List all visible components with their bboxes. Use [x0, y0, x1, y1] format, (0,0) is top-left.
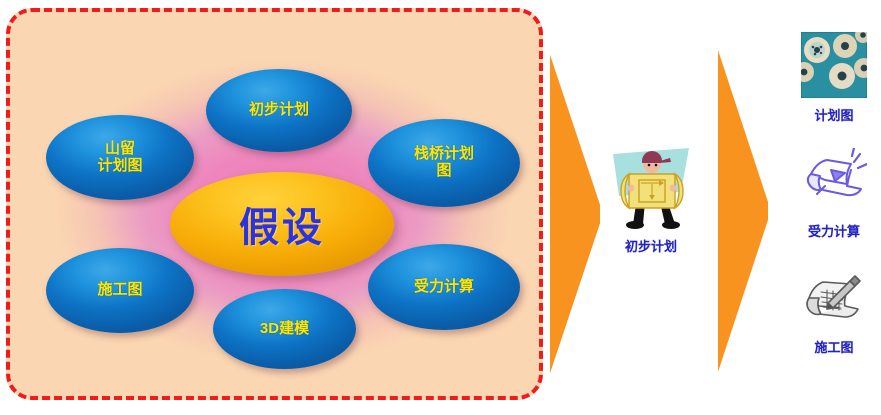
output-item-construction-drawing[interactable]: 施工图: [788, 264, 880, 356]
cluster-node-label: 初步计划: [249, 102, 309, 119]
cluster-node-label: 受力计算: [414, 279, 474, 296]
cluster-center-node[interactable]: 假设: [170, 172, 394, 276]
cluster-node-top[interactable]: 初步计划: [206, 69, 352, 152]
output-item-label: 计划图: [814, 105, 853, 124]
output-item-stress-calculation[interactable]: 受力计算: [788, 148, 880, 240]
assumption-cluster-panel: 初步计划 山留 计划图 栈桥计划 图 施工图 3D建模 受力计算 假设: [6, 8, 543, 400]
diagram-canvas: 初步计划 山留 计划图 栈桥计划 图 施工图 3D建模 受力计算 假设: [0, 0, 881, 415]
cluster-node-label: 3D建模: [260, 321, 309, 338]
rolled-blueprint-icon: [801, 148, 867, 214]
blueprint-with-pencil-icon: [801, 264, 867, 330]
stage-node-preliminary-plan[interactable]: 初步计划: [592, 142, 710, 270]
output-item-plan-drawing[interactable]: 计划图: [788, 32, 880, 124]
worker-holding-blueprint-icon: [603, 142, 699, 230]
output-item-label: 施工图: [814, 337, 853, 356]
cluster-node-label: 山留 计划图: [97, 141, 142, 175]
cluster-node-label: 栈桥计划 图: [414, 146, 474, 180]
cluster-center-label: 假设: [239, 195, 325, 253]
cluster-node-upper-right[interactable]: 栈桥计划 图: [368, 119, 520, 207]
output-item-label: 受力计算: [808, 221, 860, 240]
stage-node-label: 初步计划: [625, 236, 677, 255]
cluster-node-lower-left[interactable]: 施工图: [46, 248, 194, 333]
cluster-node-upper-left[interactable]: 山留 计划图: [46, 115, 194, 200]
cluster-node-label: 施工图: [97, 282, 142, 299]
output-list: 计划图 受力计算: [788, 32, 880, 388]
cluster-node-bottom[interactable]: 3D建模: [213, 289, 356, 369]
chevron-right-arrow-icon: [716, 50, 768, 372]
spools-photo-icon: [801, 32, 867, 98]
cluster-node-lower-right[interactable]: 受力计算: [368, 244, 520, 330]
